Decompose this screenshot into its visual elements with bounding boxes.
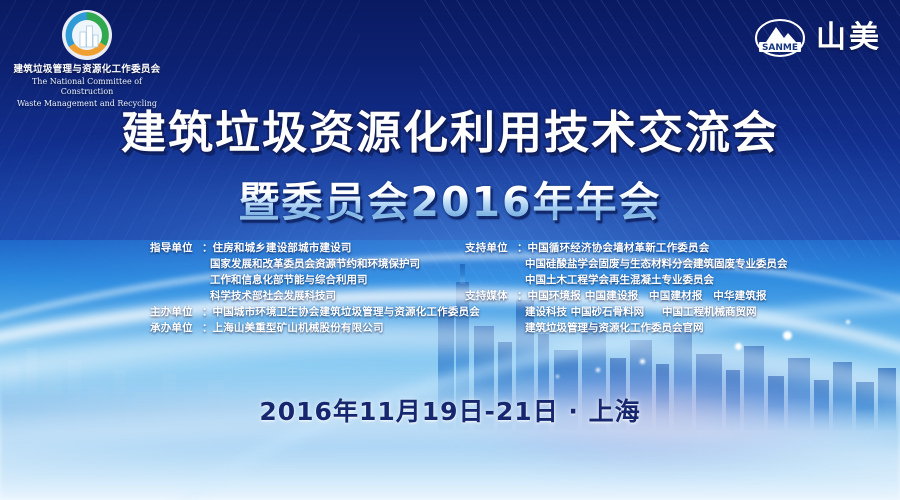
light-dot [556, 375, 559, 378]
org-group-row: 承办单位 ： 上海山美重型矿山机械股份有限公司 [150, 320, 480, 336]
sanme-mountain-icon: SANME [754, 18, 806, 58]
org-group-row: 支持单位 ： 中国循环经济协会墙材革新工作委员会 [465, 240, 788, 256]
org-value: 上海山美重型矿山机械股份有限公司 [213, 320, 384, 336]
org-value: 科学技术部社会发展科技司 [150, 288, 480, 304]
org-value: 中国土木工程学会再生混凝土专业委员会 [465, 272, 788, 288]
org-label: 主办单位 [150, 304, 202, 320]
organizations-left-column: 指导单位 ： 住房和城乡建设部城市建设司 国家发展和改革委员会资源节约和环境保护… [150, 240, 480, 336]
event-main-title: 建筑垃圾资源化利用技术交流会 [0, 96, 900, 161]
org-colon: ： [202, 320, 213, 336]
org-value: 中国城市环境卫生协会建筑垃圾管理与资源化工作委员会 [213, 304, 481, 320]
conference-banner: 建筑垃圾管理与资源化工作委员会 The National Committee o… [0, 0, 900, 500]
committee-logo-en-line1: The National Committee of Construction [12, 77, 162, 98]
org-value: 中国循环经济协会墙材革新工作委员会 [528, 240, 710, 256]
org-label: 承办单位 [150, 320, 202, 336]
org-colon: ： [517, 240, 528, 256]
org-colon: ： [202, 240, 213, 256]
org-value: 中国环境报 中国建设报 中国建材报 中华建筑报 [528, 288, 767, 304]
light-dot [640, 359, 645, 364]
org-value: 建筑垃圾管理与资源化工作委员会官网 [465, 320, 788, 336]
org-colon: ： [202, 304, 213, 320]
committee-logo-icon [60, 8, 114, 62]
sanme-logo-cn-text: 山美 [816, 23, 882, 53]
org-label: 支持单位 [465, 240, 517, 256]
sanme-logo: SANME 山美 [754, 18, 882, 58]
committee-logo-cn-name: 建筑垃圾管理与资源化工作委员会 [12, 64, 162, 76]
org-value: 中国硅酸盐学会固废与生态材料分会建筑固废专业委员会 [465, 256, 788, 272]
sanme-mark-text: SANME [762, 43, 798, 53]
org-value: 建设科技 中国砂石骨料网 中国工程机械商贸网 [465, 304, 788, 320]
event-date-location: 2016年11月19日-21日 · 上海 [0, 392, 900, 428]
org-value: 国家发展和改革委员会资源节约和环境保护司 [150, 256, 480, 272]
committee-logo: 建筑垃圾管理与资源化工作委员会 The National Committee o… [12, 8, 162, 109]
organizations-block: 指导单位 ： 住房和城乡建设部城市建设司 国家发展和改革委员会资源节约和环境保护… [0, 240, 900, 350]
bottom-light-band [0, 370, 900, 500]
event-subtitle: 暨委员会2016年年会 [0, 168, 900, 228]
organizations-right-column: 支持单位 ： 中国循环经济协会墙材革新工作委员会 中国硅酸盐学会固废与生态材料分… [465, 240, 788, 336]
light-dot [596, 368, 600, 372]
org-value: 工作和信息化部节能与综合利用司 [150, 272, 480, 288]
org-label: 支持媒体 [465, 288, 517, 304]
org-group-row: 支持媒体 ： 中国环境报 中国建设报 中国建材报 中华建筑报 [465, 288, 788, 304]
org-group-row: 主办单位 ： 中国城市环境卫生协会建筑垃圾管理与资源化工作委员会 [150, 304, 480, 320]
org-value: 住房和城乡建设部城市建设司 [213, 240, 352, 256]
org-group-row: 指导单位 ： 住房和城乡建设部城市建设司 [150, 240, 480, 256]
org-colon: ： [517, 288, 528, 304]
org-label: 指导单位 [150, 240, 202, 256]
